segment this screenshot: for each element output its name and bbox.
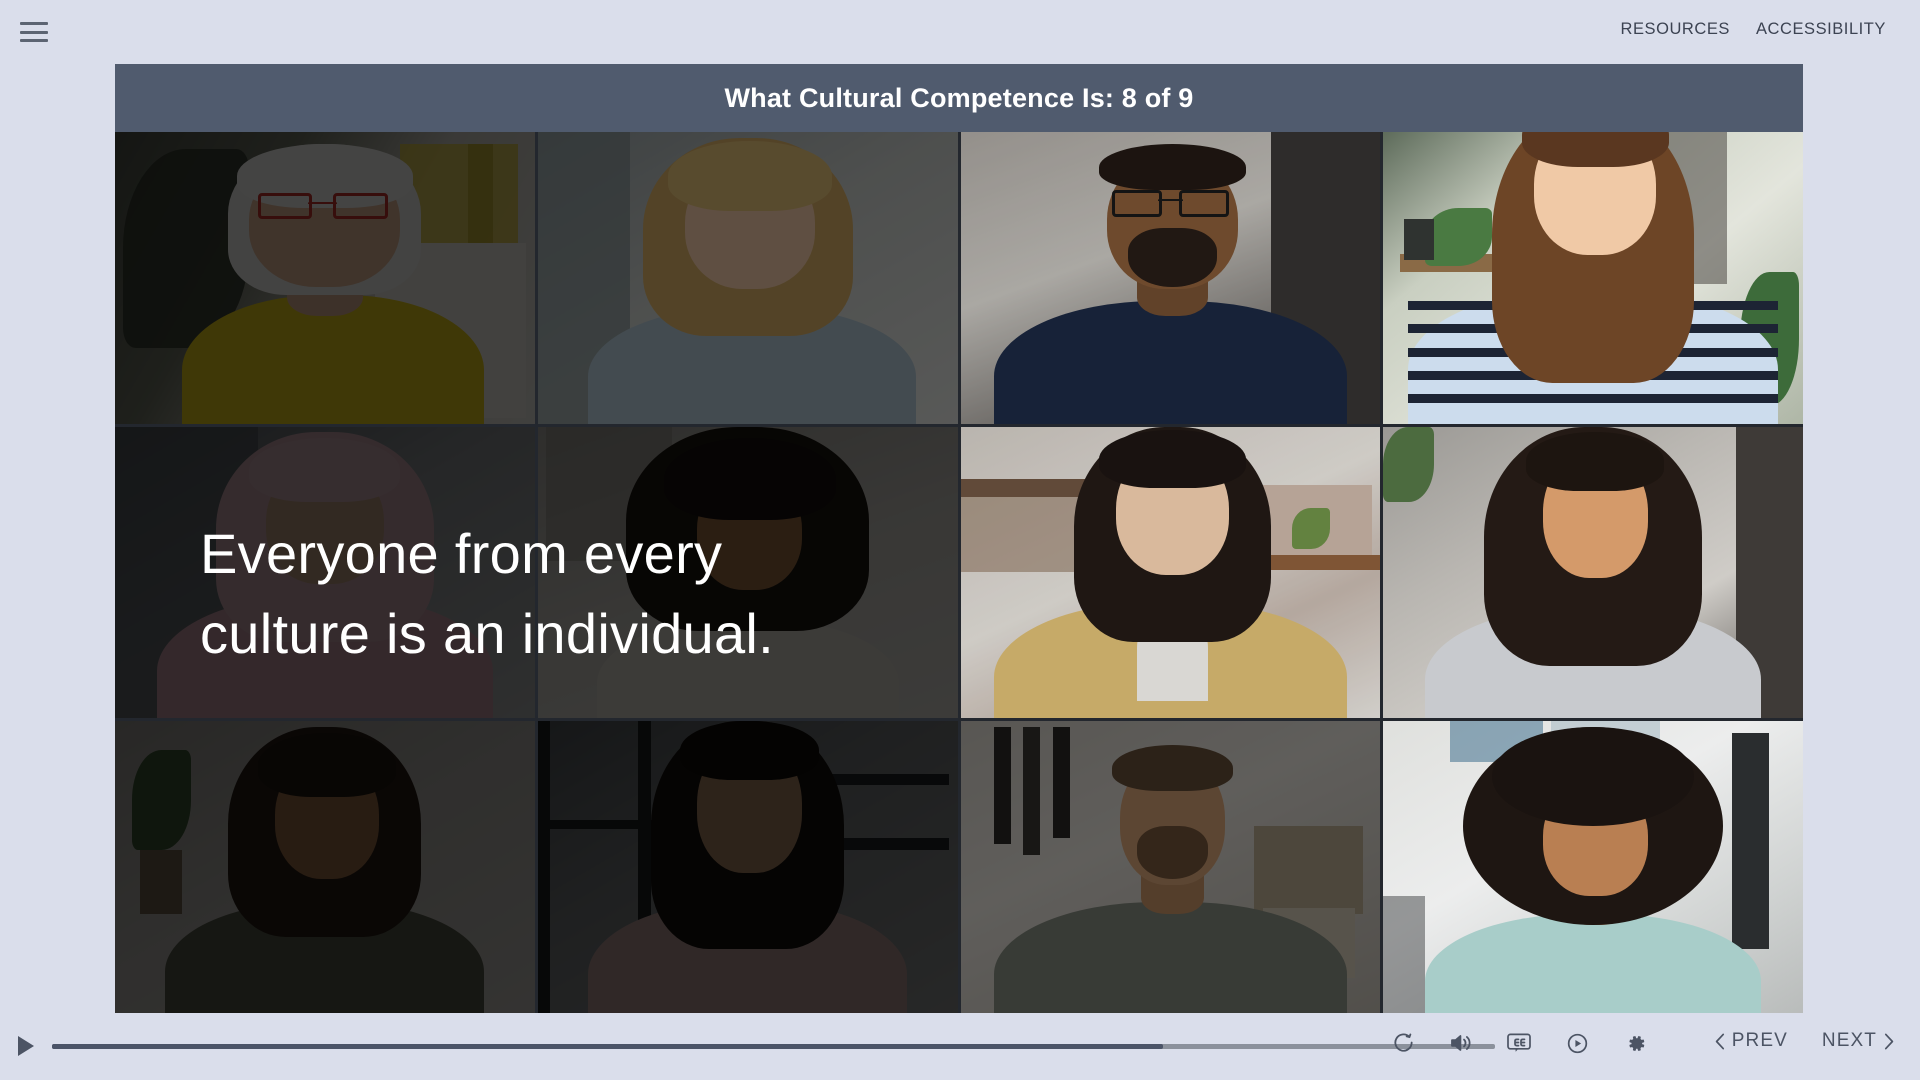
video-tile bbox=[1383, 132, 1803, 424]
video-tile bbox=[1383, 427, 1803, 719]
nav-item-accessibility[interactable]: ACCESSIBILITY bbox=[1756, 20, 1886, 39]
tile-dim-overlay bbox=[961, 132, 1381, 424]
top-navigation: RESOURCES ACCESSIBILITY bbox=[1621, 20, 1887, 39]
tile-dim-overlay bbox=[961, 721, 1381, 1013]
settings-gear-icon[interactable] bbox=[1622, 1030, 1648, 1056]
page-title: What Cultural Competence Is: 8 of 9 bbox=[724, 83, 1193, 114]
tile-dim-overlay bbox=[538, 427, 958, 719]
chevron-left-icon bbox=[1715, 1033, 1725, 1050]
video-tile bbox=[115, 721, 535, 1013]
prev-label: PREV bbox=[1732, 1030, 1788, 1052]
nav-item-resources[interactable]: RESOURCES bbox=[1621, 20, 1730, 39]
video-tile bbox=[115, 427, 535, 719]
tile-dim-overlay bbox=[961, 427, 1381, 719]
hamburger-bar bbox=[20, 22, 48, 25]
play-button[interactable] bbox=[18, 1036, 40, 1058]
video-tile bbox=[961, 721, 1381, 1013]
video-tile bbox=[538, 132, 958, 424]
video-call-grid bbox=[115, 132, 1803, 1013]
chevron-right-icon bbox=[1884, 1033, 1894, 1050]
slide-stage: What Cultural Competence Is: 8 of 9 bbox=[115, 64, 1803, 1013]
volume-icon[interactable] bbox=[1448, 1030, 1474, 1056]
progress-fill bbox=[52, 1044, 1163, 1049]
cc-icon[interactable] bbox=[1506, 1030, 1532, 1056]
prev-button[interactable]: PREV bbox=[1715, 1030, 1788, 1052]
video-tile bbox=[538, 721, 958, 1013]
tile-dim-overlay bbox=[115, 132, 535, 424]
hamburger-bar bbox=[20, 39, 48, 42]
video-tile bbox=[538, 427, 958, 719]
top-bar: RESOURCES ACCESSIBILITY bbox=[0, 0, 1920, 62]
video-tile bbox=[961, 132, 1381, 424]
player-icon-row bbox=[1390, 1030, 1648, 1056]
tile-dim-overlay bbox=[115, 427, 535, 719]
video-tile bbox=[1383, 721, 1803, 1013]
replay-icon[interactable] bbox=[1390, 1030, 1416, 1056]
progress-scrubber[interactable] bbox=[52, 1044, 1495, 1049]
tile-dim-overlay bbox=[538, 721, 958, 1013]
player-control-bar: PREV NEXT bbox=[0, 1012, 1920, 1080]
play-icon bbox=[18, 1036, 34, 1056]
playback-speed-icon[interactable] bbox=[1564, 1030, 1590, 1056]
hamburger-bar bbox=[20, 31, 48, 34]
video-tile bbox=[115, 132, 535, 424]
slide-title-bar: What Cultural Competence Is: 8 of 9 bbox=[115, 64, 1803, 132]
tile-dim-overlay bbox=[115, 721, 535, 1013]
next-button[interactable]: NEXT bbox=[1822, 1030, 1894, 1052]
course-player: RESOURCES ACCESSIBILITY What Cultural Co… bbox=[0, 0, 1920, 1080]
video-tile bbox=[961, 427, 1381, 719]
slide-navigation: PREV NEXT bbox=[1715, 1030, 1894, 1052]
tile-dim-overlay bbox=[538, 132, 958, 424]
next-label: NEXT bbox=[1822, 1030, 1877, 1052]
hamburger-menu-icon[interactable] bbox=[20, 22, 48, 42]
